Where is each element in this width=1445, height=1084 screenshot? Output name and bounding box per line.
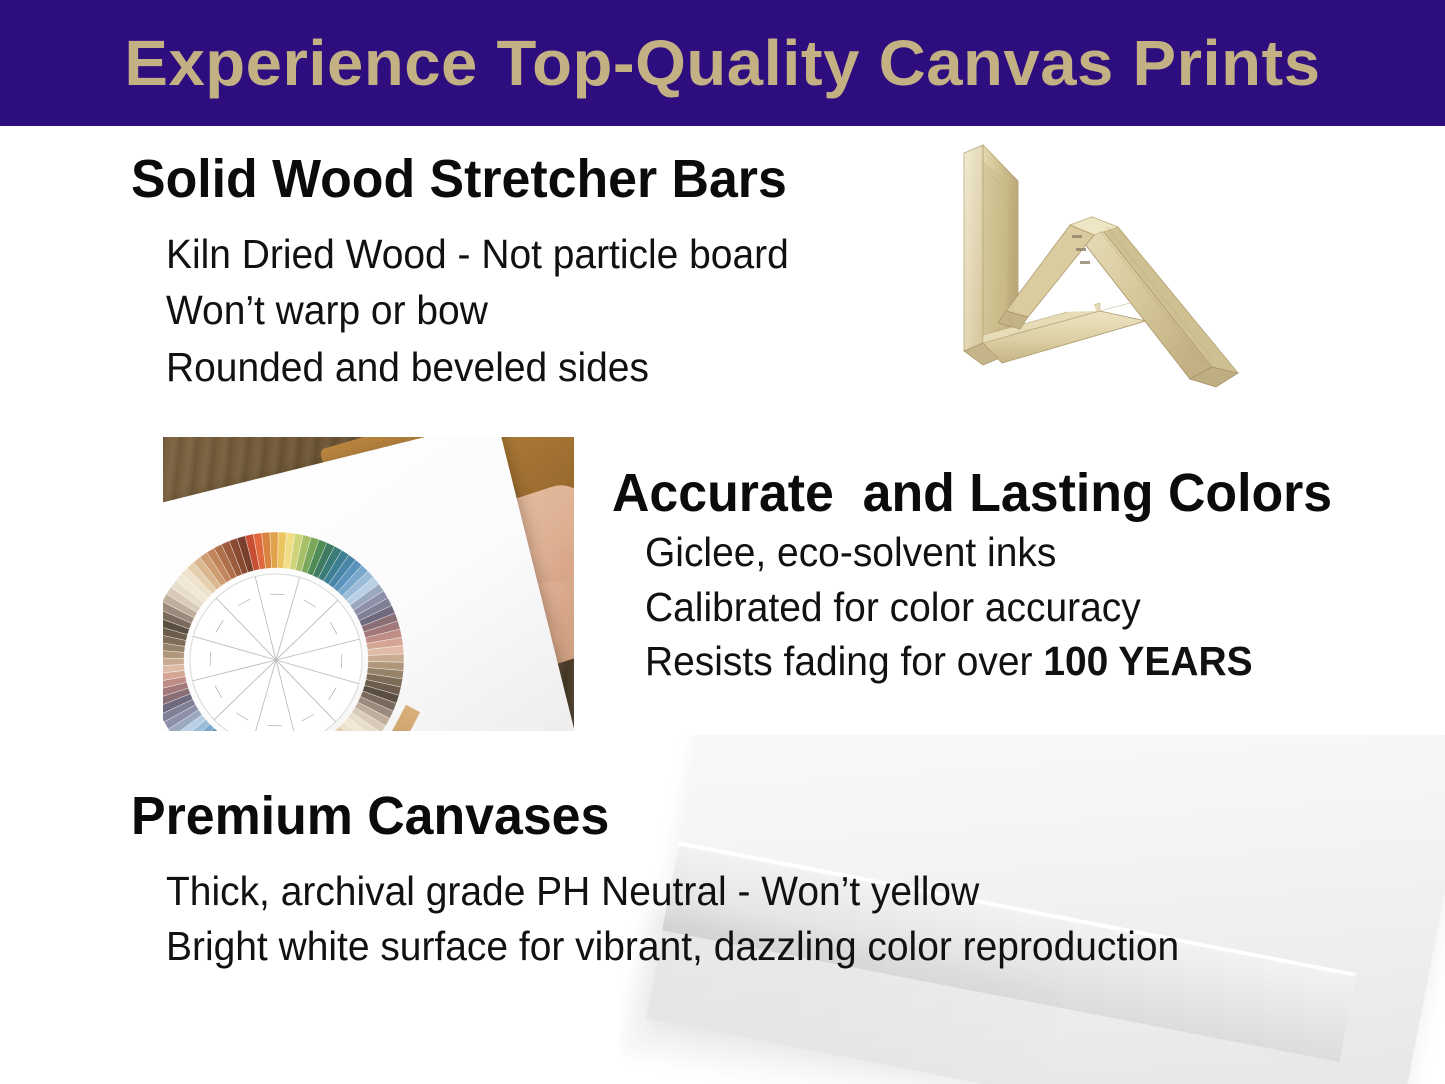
feature-bullet-resists-fading: Resists fading for over 100 YEARS — [645, 641, 1253, 682]
page-title: Experience Top-Quality Canvas Prints — [0, 0, 1445, 126]
feature-heading-accurate-colors: Accurate and Lasting Colors — [612, 466, 1332, 520]
feature-bullet-giclee-inks: Giclee, eco-solvent inks — [645, 532, 1056, 573]
feature-heading-stretcher-bars: Solid Wood Stretcher Bars — [131, 152, 787, 206]
feature-heading-premium-canvases: Premium Canvases — [131, 789, 609, 843]
svg-text:——: —— — [270, 591, 284, 598]
infographic-page: Experience Top-Quality Canvas Prints Sol… — [0, 0, 1445, 1084]
wood-stretcher-bars-photo — [950, 135, 1240, 415]
feature-bullet-beveled: Rounded and beveled sides — [166, 347, 649, 388]
svg-text:——: —— — [207, 652, 214, 666]
svg-text:——: —— — [338, 654, 345, 668]
color-wheel-photo: ———————————————————————— — [163, 437, 574, 731]
resists-fading-text: Resists fading for over — [645, 638, 1043, 684]
svg-text:——: —— — [268, 722, 282, 729]
feature-bullet-ph-neutral: Thick, archival grade PH Neutral - Won’t… — [166, 871, 979, 912]
wood-bars-illustration — [950, 135, 1240, 415]
hundred-years-emphasis: 100 YEARS — [1043, 638, 1252, 684]
feature-bullet-no-warp: Won’t warp or bow — [166, 290, 488, 331]
feature-bullet-calibrated: Calibrated for color accuracy — [645, 587, 1141, 628]
feature-bullet-kiln-dried: Kiln Dried Wood - Not particle board — [166, 234, 789, 275]
feature-bullet-bright-white: Bright white surface for vibrant, dazzli… — [166, 926, 1179, 967]
header-banner: Experience Top-Quality Canvas Prints — [0, 0, 1445, 126]
